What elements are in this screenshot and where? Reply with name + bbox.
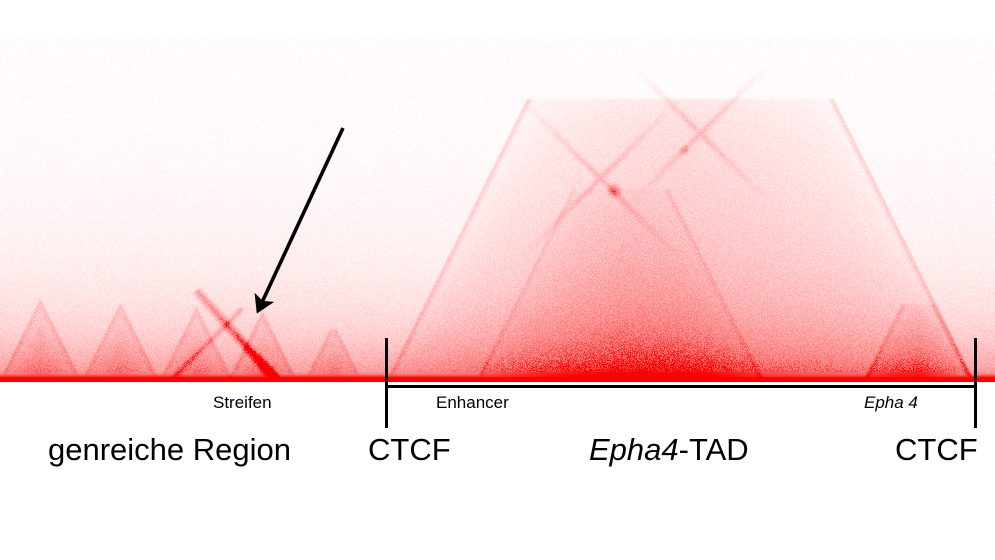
label-epha4-tad: Epha4-TAD [589,432,749,468]
label-ctcf-right: CTCF [895,432,978,468]
ctcf-tick-right [974,338,977,428]
ctcf-tick-left [385,338,388,428]
label-ctcf-left: CTCF [368,432,451,468]
label-streifen: Streifen [213,392,272,413]
label-gene-rich-region: genreiche Region [48,432,291,468]
label-epha4-tad-italic: Epha4 [589,432,679,467]
label-epha4-tad-suffix: -TAD [679,432,749,467]
tad-span-line [385,385,976,388]
label-epha4-gene: Epha 4 [864,392,918,413]
label-enhancer: Enhancer [436,392,509,413]
hi-c-contact-matrix [0,38,995,382]
hi-c-figure: Streifen Enhancer Epha 4 genreiche Regio… [0,0,995,560]
hi-c-heatmap [0,38,995,382]
